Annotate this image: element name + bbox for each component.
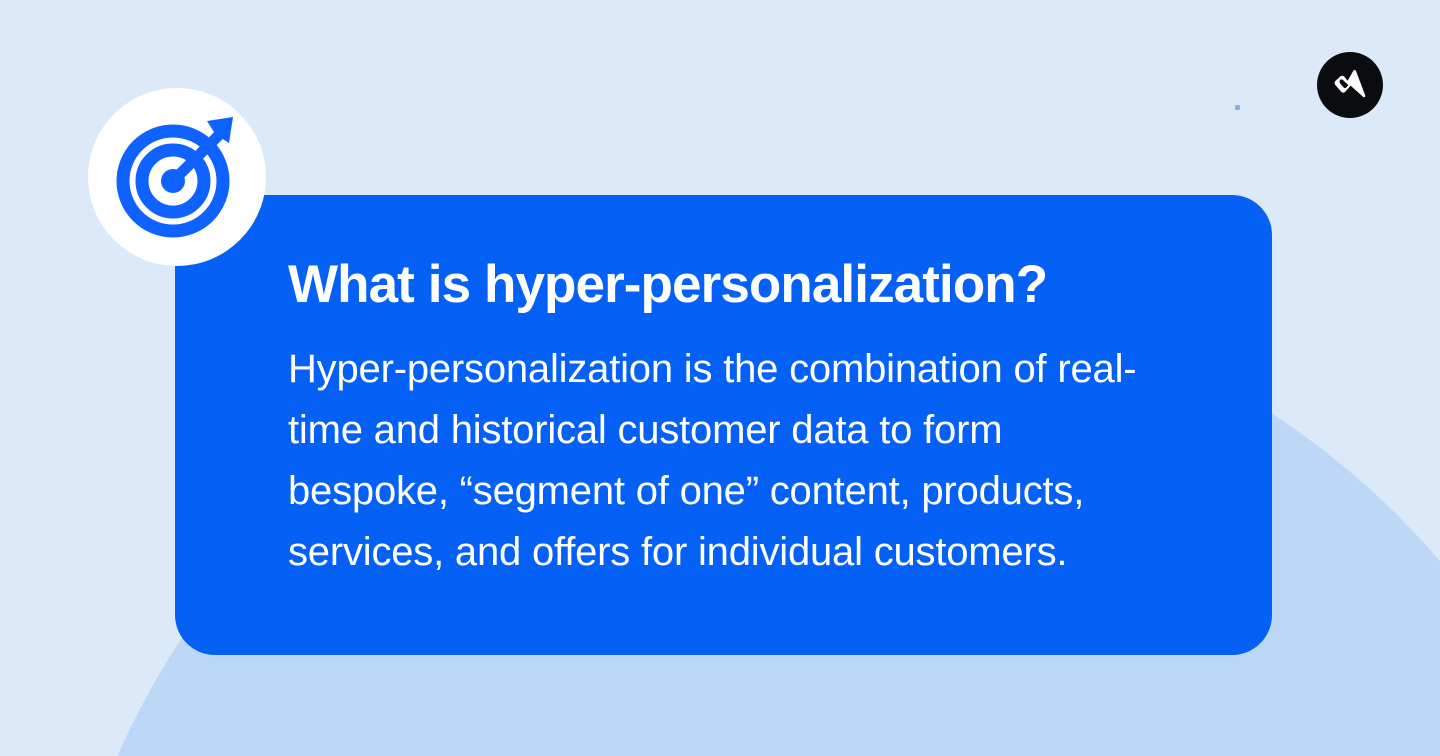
brand-logo[interactable] [1317,52,1383,118]
speck-dot [1235,105,1240,110]
page-title: What is hyper-personalization? [288,257,1168,313]
definition-card: What is hyper-personalization? Hyper-per… [175,195,1272,655]
infographic-canvas: What is hyper-personalization? Hyper-per… [0,0,1440,756]
definition-body-text: Hyper-personalization is the combination… [288,339,1168,583]
target-bullseye-icon [115,115,239,239]
badge-circle [88,88,266,266]
brand-a-logo [1329,64,1371,106]
